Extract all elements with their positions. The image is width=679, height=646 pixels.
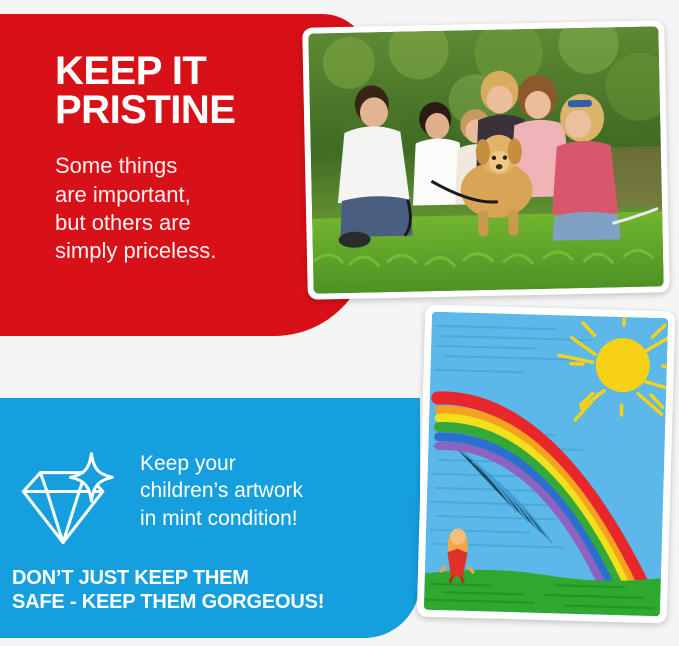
artwork-image (424, 312, 668, 616)
red-panel-subcopy: Some things are important, but others ar… (55, 152, 305, 265)
red-panel-content: KEEP IT PRISTINE Some things are importa… (55, 52, 305, 265)
family-with-dog-photo (302, 20, 670, 300)
page-title: KEEP IT PRISTINE (55, 52, 305, 130)
diamond-sparkle-icon (12, 448, 116, 552)
promo-banner: KEEP IT PRISTINE Some things are importa… (0, 0, 679, 646)
photo-image (308, 26, 663, 293)
blue-panel: Keep your children’s artwork in mint con… (0, 398, 420, 638)
blue-panel-tagline: DON’T JUST KEEP THEM SAFE - KEEP THEM GO… (12, 566, 324, 614)
blue-panel-copy: Keep your children’s artwork in mint con… (140, 444, 303, 532)
childrens-rainbow-drawing (417, 305, 676, 624)
blue-panel-message: Keep your children’s artwork in mint con… (12, 444, 303, 552)
